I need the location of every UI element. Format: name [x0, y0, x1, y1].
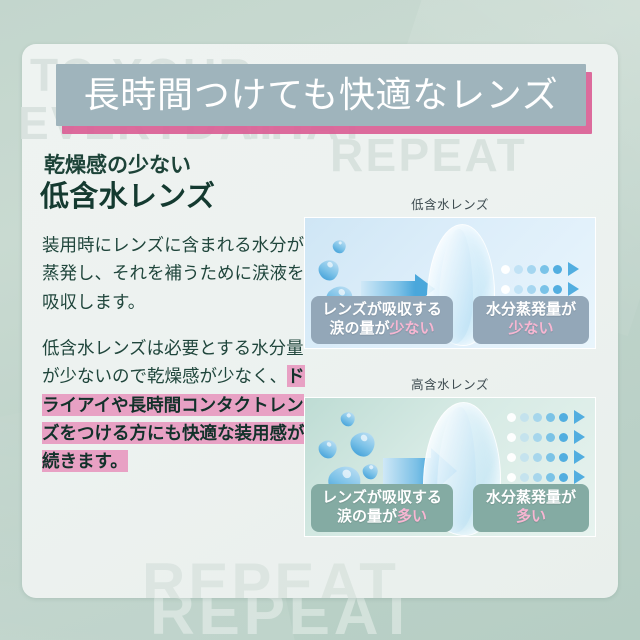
evaporation-arrow-icon — [574, 450, 585, 464]
caption-absorption-low: レンズが吸収する 涙の量が少ない — [311, 296, 453, 344]
evaporation-row — [507, 430, 585, 444]
evaporation-indicator-high — [507, 410, 585, 490]
caption-highlight: 少ない — [481, 320, 581, 338]
caption-line-1: レンズが吸収する — [319, 301, 445, 319]
water-droplet — [330, 237, 348, 255]
card-watermark-5: REPEAT — [330, 128, 527, 182]
body-paragraph-1: 装用時にレンズに含まれる水分が蒸発し、それを補うために涙液を吸収します。 — [42, 231, 314, 316]
caption-line-2: 涙の量が少ない — [319, 320, 445, 338]
page-title: 長時間つけても快適なレンズ — [84, 77, 559, 113]
water-droplet — [315, 256, 343, 284]
evaporation-row — [501, 282, 579, 296]
water-droplet — [315, 436, 340, 461]
panel-high-water-lens: 高含水レンズ — [304, 374, 596, 537]
main-heading: 低含水レンズ — [40, 180, 324, 215]
panel-low-title: 低含水レンズ — [304, 194, 596, 213]
card-watermark-6: REPEAT — [142, 550, 399, 598]
caption-highlight: 少ない — [390, 320, 435, 337]
sub-heading: 乾燥感の少ない — [44, 152, 324, 178]
caption-line-1: 水分蒸発量が — [481, 301, 581, 319]
caption-absorption-high: レンズが吸収する 涙の量が多い — [311, 484, 453, 532]
evaporation-arrow-icon — [574, 410, 585, 424]
caption-plain: 涙の量が — [337, 508, 397, 525]
evaporation-arrow-icon — [574, 470, 585, 484]
title-banner: 長時間つけても快適なレンズ — [56, 64, 586, 126]
body-paragraph-2: 低含水レンズは必要とする水分量が少ないので乾燥感が少なく、ドライアイや長時間コン… — [42, 334, 314, 476]
title-banner-bar: 長時間つけても快適なレンズ — [56, 64, 586, 126]
caption-line-1: 水分蒸発量が — [481, 489, 581, 507]
caption-plain: 涙の量が — [329, 320, 389, 337]
caption-line-1: レンズが吸収する — [319, 489, 445, 507]
caption-highlight: 多い — [481, 508, 581, 526]
content-card: TO YOUR WANT EVERYDAY THAT REPEAT REPEAT… — [22, 44, 618, 598]
water-droplet — [360, 461, 381, 482]
caption-evaporation-low: 水分蒸発量が 少ない — [473, 296, 589, 344]
panel-low-body: レンズが吸収する 涙の量が少ない 水分蒸発量が 少ない — [304, 217, 596, 349]
water-droplet — [346, 427, 380, 461]
caption-evaporation-high: 水分蒸発量が 多い — [473, 484, 589, 532]
panel-low-water-lens: 低含水レンズ — [304, 194, 596, 349]
evaporation-arrow-icon — [574, 430, 585, 444]
water-droplet — [338, 409, 358, 429]
left-text-column: 乾燥感の少ない 低含水レンズ 装用時にレンズに含まれる水分が蒸発し、それを補うた… — [34, 152, 324, 476]
evaporation-row — [501, 262, 579, 276]
caption-highlight: 多い — [397, 508, 427, 525]
panel-high-title: 高含水レンズ — [304, 374, 596, 393]
evaporation-row — [507, 450, 585, 464]
panel-high-body: レンズが吸収する 涙の量が多い 水分蒸発量が 多い — [304, 397, 596, 537]
paragraph-2-plain: 低含水レンズは必要とする水分量が少ないので乾燥感が少なく、 — [42, 338, 304, 386]
evaporation-arrow-icon — [568, 262, 579, 276]
caption-line-2: 涙の量が多い — [319, 508, 445, 526]
evaporation-arrow-icon — [568, 282, 579, 296]
infographic-canvas: TO YOUR WANT EVERYDAY THAT REPEAT REPEAT… — [0, 0, 640, 640]
evaporation-row — [507, 410, 585, 424]
evaporation-row — [507, 470, 585, 484]
